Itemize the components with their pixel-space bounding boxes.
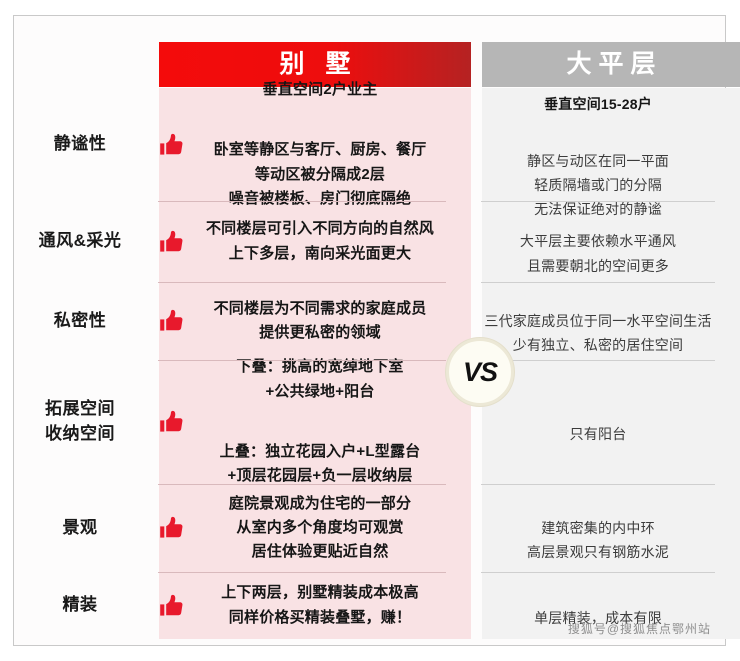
row-label-cell: 静谧性 <box>14 88 146 201</box>
thumbs-up-icon <box>154 306 190 336</box>
vs-badge: VS <box>446 338 514 406</box>
villa-highlight: 垂直空间2户业主 <box>192 78 448 102</box>
row-label: 拓展空间 收纳空间 <box>45 397 115 446</box>
row-label-cell: 拓展空间 收纳空间 <box>14 360 146 484</box>
table-row: 拓展空间 收纳空间 下叠：挑高的宽绰地下室 +公共绿地+阳台 上叠：独立花园入户… <box>14 360 727 484</box>
flat-cell-text: 建筑密集的内中环 高层景观只有钢筋水泥 <box>527 492 669 564</box>
thumbs-up-icon <box>154 130 190 160</box>
thumbs-up-icon <box>154 591 190 621</box>
thumbs-up-icon <box>154 407 190 437</box>
thumbs-up-icon <box>154 227 190 257</box>
villa-cell: 不同楼层可引入不同方向的自然风 上下多层，南向采光面更大 <box>146 201 458 282</box>
villa-body: 上下两层，别墅精装成本极高 同样价格买精装叠墅，赚！ <box>192 581 448 630</box>
row-label-cell: 通风&采光 <box>14 201 146 282</box>
row-label: 通风&采光 <box>39 229 122 254</box>
comparison-infographic: 别 墅 大平层 静谧性 垂直空 <box>0 0 740 661</box>
row-label-cell: 景观 <box>14 484 146 572</box>
villa-body: 庭院景观成为住宅的一部分 从室内多个角度均可观赏 居住体验更贴近自然 <box>192 492 448 565</box>
row-label: 私密性 <box>54 309 107 334</box>
flat-cell: 三代家庭成员位于同一水平空间生活 少有独立、私密的居住空间 <box>469 282 727 360</box>
villa-cell-text: 上下两层，别墅精装成本极高 同样价格买精装叠墅，赚！ <box>192 557 448 654</box>
villa-body: 不同楼层可引入不同方向的自然风 上下多层，南向采光面更大 <box>192 217 448 266</box>
table-frame: 别 墅 大平层 静谧性 垂直空 <box>13 15 726 646</box>
thumbs-up-icon <box>154 513 190 543</box>
villa-cell: 上下两层，别墅精装成本极高 同样价格买精装叠墅，赚！ <box>146 572 458 639</box>
flat-cell: 大平层主要依赖水平通风 且需要朝北的空间更多 <box>469 201 727 282</box>
comparison-table: 静谧性 垂直空间2户业主 卧室等静区与客厅、厨房、餐厅 等动区被分隔成2层 噪音… <box>14 88 727 639</box>
row-label: 精装 <box>63 593 98 618</box>
watermark-text: 搜狐号@搜狐焦点鄂州站 <box>568 620 711 637</box>
flat-cell-text: 大平层主要依赖水平通风 且需要朝北的空间更多 <box>520 205 676 277</box>
row-label: 静谧性 <box>54 132 107 157</box>
villa-cell: 下叠：挑高的宽绰地下室 +公共绿地+阳台 上叠：独立花园入户+L型露台 +顶层花… <box>146 360 458 484</box>
villa-cell: 垂直空间2户业主 卧室等静区与客厅、厨房、餐厅 等动区被分隔成2层 噪音被楼板、… <box>146 88 458 201</box>
villa-body: 下叠：挑高的宽绰地下室 +公共绿地+阳台 <box>192 355 448 404</box>
flat-highlight: 垂直空间15-28户 <box>527 92 669 116</box>
flat-cell-text: 三代家庭成员位于同一水平空间生活 少有独立、私密的居住空间 <box>484 285 711 357</box>
flat-cell-text: 垂直空间15-28户 静区与动区在同一平面 轻质隔墙或门的分隔 无法保证绝对的静… <box>527 68 669 221</box>
table-row: 静谧性 垂直空间2户业主 卧室等静区与客厅、厨房、餐厅 等动区被分隔成2层 噪音… <box>14 88 727 201</box>
row-label: 景观 <box>63 516 98 541</box>
flat-body: 建筑密集的内中环 高层景观只有钢筋水泥 <box>527 520 669 560</box>
vs-badge-label: VS <box>463 359 497 386</box>
row-label-cell: 私密性 <box>14 282 146 360</box>
flat-cell-text: 只有阳台 <box>570 398 627 446</box>
flat-cell: 建筑密集的内中环 高层景观只有钢筋水泥 <box>469 484 727 572</box>
flat-body: 三代家庭成员位于同一水平空间生活 少有独立、私密的居住空间 <box>484 313 711 353</box>
flat-body: 大平层主要依赖水平通风 且需要朝北的空间更多 <box>520 233 676 273</box>
flat-cell: 垂直空间15-28户 静区与动区在同一平面 轻质隔墙或门的分隔 无法保证绝对的静… <box>469 88 727 201</box>
row-label-cell: 精装 <box>14 572 146 639</box>
table-row: 通风&采光 不同楼层可引入不同方向的自然风 上下多层，南向采光面更大 <box>14 201 727 282</box>
flat-body: 只有阳台 <box>570 426 627 442</box>
